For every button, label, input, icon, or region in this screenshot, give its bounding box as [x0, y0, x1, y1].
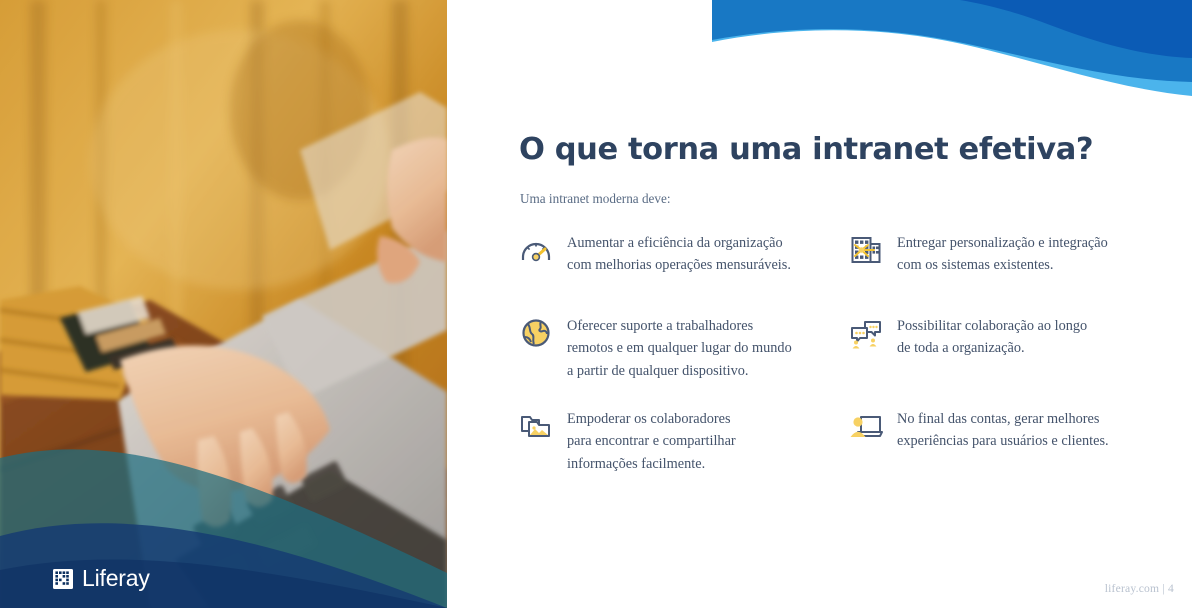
bullet-item: No final das contas, gerar melhores expe…: [849, 408, 1179, 453]
page-title: O que torna uma intranet efetiva?: [519, 132, 1093, 167]
bullet-columns: Aumentar a eficiência da organização com…: [519, 228, 1179, 475]
left-column: Aumentar a eficiência da organização com…: [519, 228, 849, 475]
building-network-icon: [849, 233, 883, 267]
gauge-icon: [519, 233, 553, 267]
liferay-wordmark: Liferay: [82, 567, 150, 590]
footer-page-label: liferay.com | 4: [1105, 582, 1174, 595]
slide-content: O que torna uma intranet efetiva? Uma in…: [519, 0, 1179, 608]
slide-subtitle: Uma intranet moderna deve:: [520, 191, 671, 207]
bullet-item: Possibilitar colaboração ao longo de tod…: [849, 315, 1179, 360]
photo-person-typing-laptop-icon: [0, 0, 447, 608]
hero-photo: Liferay: [0, 0, 447, 608]
bullet-item: Entregar personalização e integração com…: [849, 232, 1179, 277]
bullet-item: Aumentar a eficiência da organização com…: [519, 232, 831, 277]
bullet-text: Oferecer suporte a trabalhadores remotos…: [567, 315, 792, 382]
bullet-text: No final das contas, gerar melhores expe…: [897, 408, 1109, 453]
right-column: Entregar personalização e integração com…: [849, 228, 1179, 475]
presentation-slide: Liferay O que torna uma intranet efetiva…: [0, 0, 1192, 608]
liferay-pixel-grid-icon: [53, 569, 73, 589]
bullet-text: Empoderar os colaboradores para encontra…: [567, 408, 736, 475]
globe-icon: [519, 316, 553, 350]
bullet-text: Entregar personalização e integração com…: [897, 232, 1108, 277]
liferay-logo: Liferay: [53, 567, 150, 590]
person-laptop-icon: [849, 409, 883, 443]
bullet-item: Oferecer suporte a trabalhadores remotos…: [519, 315, 831, 382]
folders-icon: [519, 409, 553, 443]
chat-bubbles-people-icon: [849, 316, 883, 350]
bullet-item: Empoderar os colaboradores para encontra…: [519, 408, 831, 475]
bullet-text: Aumentar a eficiência da organização com…: [567, 232, 791, 277]
bullet-text: Possibilitar colaboração ao longo de tod…: [897, 315, 1087, 360]
